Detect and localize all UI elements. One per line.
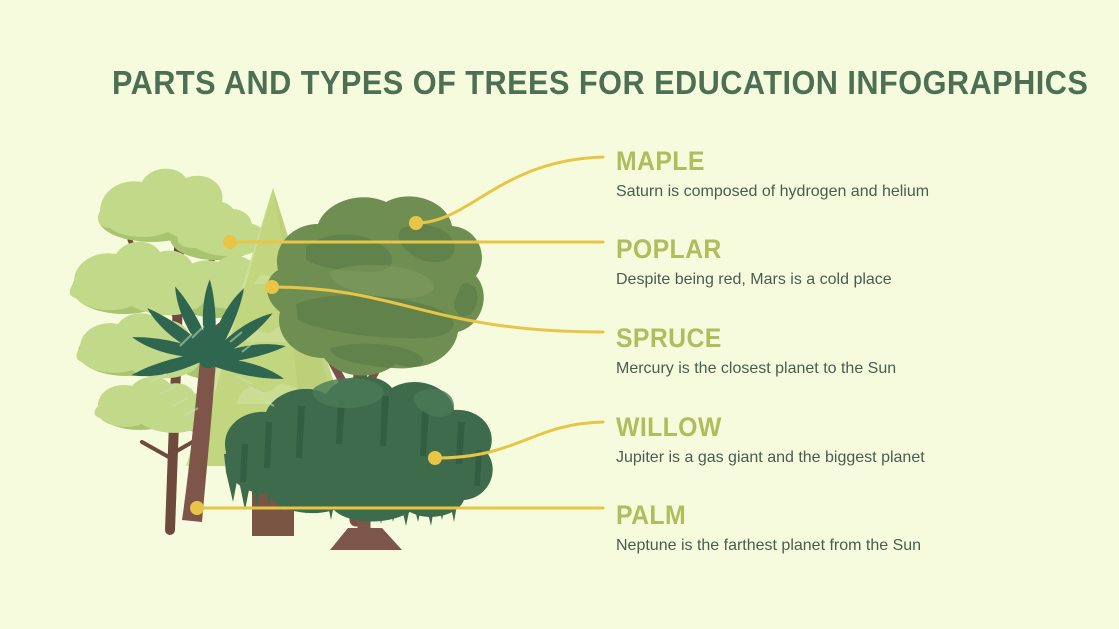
list-item-label: SPRUCE: [616, 325, 1021, 352]
list-item-label: PALM: [616, 502, 1021, 529]
list-item-description: Neptune is the farthest planet from the …: [616, 536, 1056, 555]
list-item-description: Despite being red, Mars is a cold place: [616, 270, 1056, 289]
list-item-poplar[interactable]: POPLAR Despite being red, Mars is a cold…: [616, 236, 1056, 289]
list-item-label: WILLOW: [616, 414, 1021, 441]
list-item-label: MAPLE: [616, 148, 1021, 175]
list-item-palm[interactable]: PALM Neptune is the farthest planet from…: [616, 502, 1056, 555]
list-item-label: POPLAR: [616, 236, 1021, 263]
tree-illustration-group: [30, 120, 590, 550]
page-title: PARTS AND TYPES OF TREES FOR EDUCATION I…: [112, 64, 1088, 102]
list-item-description: Jupiter is a gas giant and the biggest p…: [616, 448, 1056, 467]
list-item-description: Mercury is the closest planet to the Sun: [616, 359, 1056, 378]
slide-canvas: PARTS AND TYPES OF TREES FOR EDUCATION I…: [0, 0, 1119, 629]
list-item-willow[interactable]: WILLOW Jupiter is a gas giant and the bi…: [616, 414, 1056, 467]
list-item-maple[interactable]: MAPLE Saturn is composed of hydrogen and…: [616, 148, 1056, 201]
list-item-description: Saturn is composed of hydrogen and heliu…: [616, 182, 1056, 201]
list-item-spruce[interactable]: SPRUCE Mercury is the closest planet to …: [616, 325, 1056, 378]
